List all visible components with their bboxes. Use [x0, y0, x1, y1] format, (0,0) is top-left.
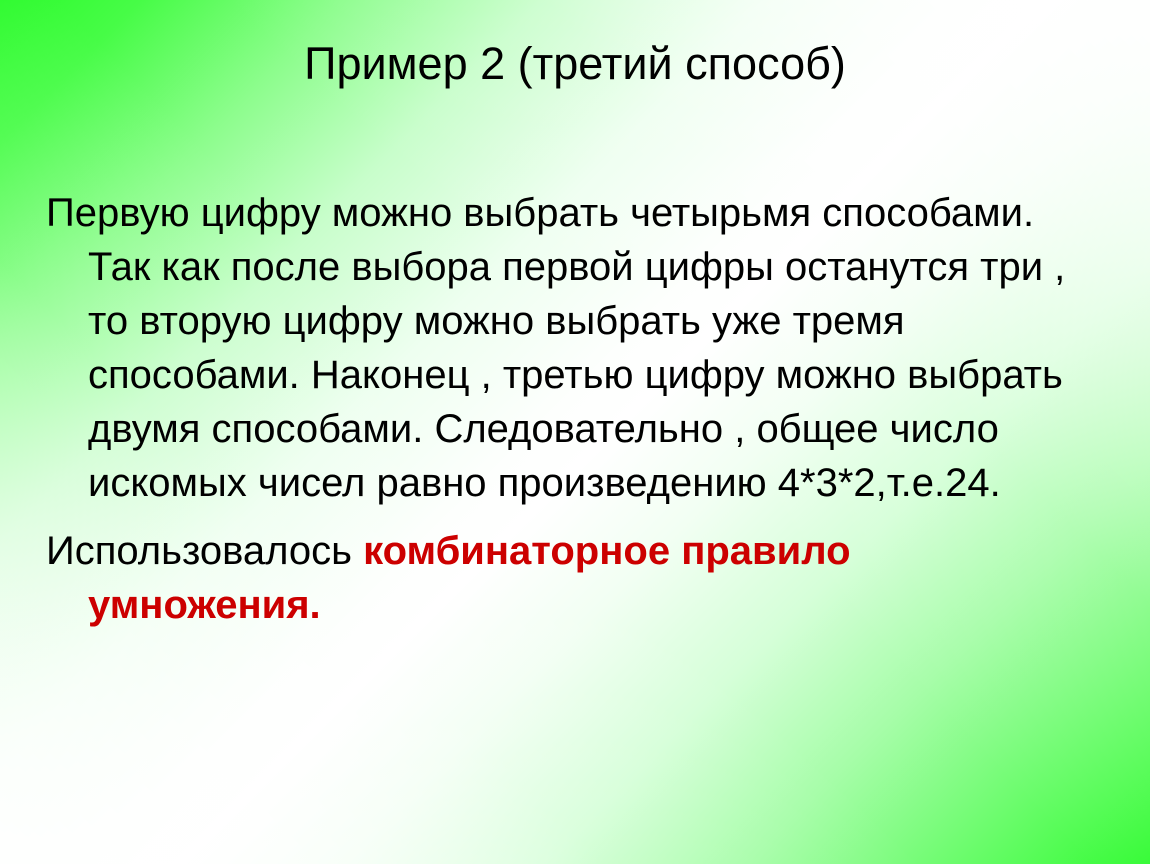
slide-canvas: Пример 2 (третий способ) Первую цифру мо…: [0, 0, 1150, 864]
slide-content: Пример 2 (третий способ) Первую цифру мо…: [0, 0, 1150, 864]
body-paragraph-2-plain-text: Использовалось: [46, 529, 363, 573]
body-paragraph-1: Первую цифру можно выбрать четырьмя спос…: [46, 186, 1088, 510]
slide-body: Первую цифру можно выбрать четырьмя спос…: [46, 186, 1088, 632]
page-title: Пример 2 (третий способ): [58, 36, 1092, 92]
body-paragraph-2: Использовалось комбинаторное правило умн…: [46, 524, 1088, 632]
